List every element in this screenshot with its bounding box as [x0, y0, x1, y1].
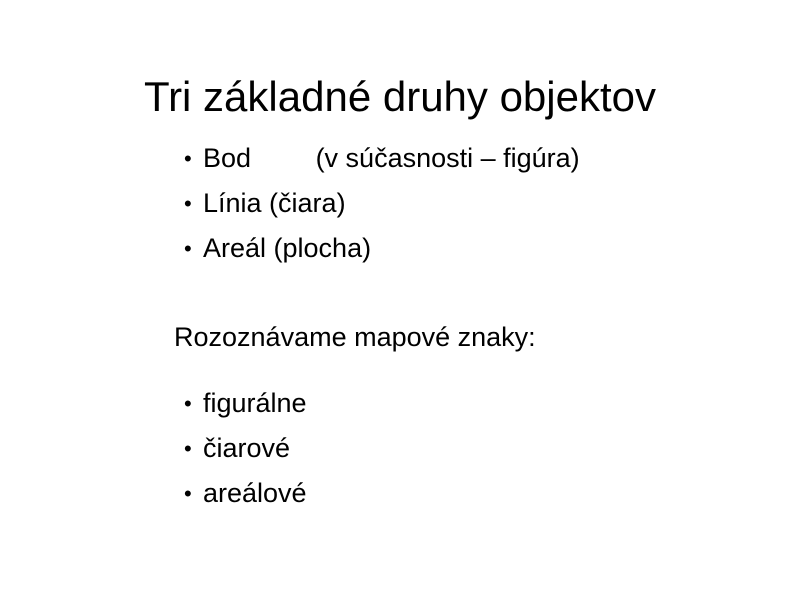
map-symbols-intro: Rozoznávame mapové znaky:	[167, 315, 800, 360]
list-item: • areálové	[167, 471, 800, 516]
list-item: • figurálne	[167, 381, 800, 426]
object-kinds-block: • Bod (v súčasnosti – figúra) • Línia (č…	[0, 136, 800, 271]
object-kinds-list: • Bod (v súčasnosti – figúra) • Línia (č…	[167, 136, 800, 271]
bullet-icon: •	[184, 471, 192, 516]
list-item-aside: (v súčasnosti – figúra)	[316, 136, 580, 181]
list-item-label: Línia (čiara)	[203, 188, 346, 218]
list-item-label: Bod	[203, 143, 251, 173]
bullet-icon: •	[184, 136, 192, 181]
list-item: • Línia (čiara)	[167, 181, 800, 226]
map-symbols-list: • figurálne • čiarové • areálové	[167, 381, 800, 516]
list-item-label: Areál (plocha)	[203, 233, 371, 263]
bullet-icon: •	[184, 381, 192, 426]
bullet-icon: •	[184, 426, 192, 471]
list-item: • Areál (plocha)	[167, 226, 800, 271]
slide-canvas: Tri základné druhy objektov • Bod (v súč…	[0, 0, 800, 600]
bullet-icon: •	[184, 226, 192, 271]
list-item: • čiarové	[167, 426, 800, 471]
list-item-label: čiarové	[203, 433, 290, 463]
list-item-label: areálové	[203, 478, 307, 508]
bullet-icon: •	[184, 181, 192, 226]
list-item: • Bod (v súčasnosti – figúra)	[167, 136, 800, 181]
page-title: Tri základné druhy objektov	[0, 72, 800, 122]
list-item-label: figurálne	[203, 388, 307, 418]
map-symbols-block: Rozoznávame mapové znaky: • figurálne • …	[0, 315, 800, 516]
